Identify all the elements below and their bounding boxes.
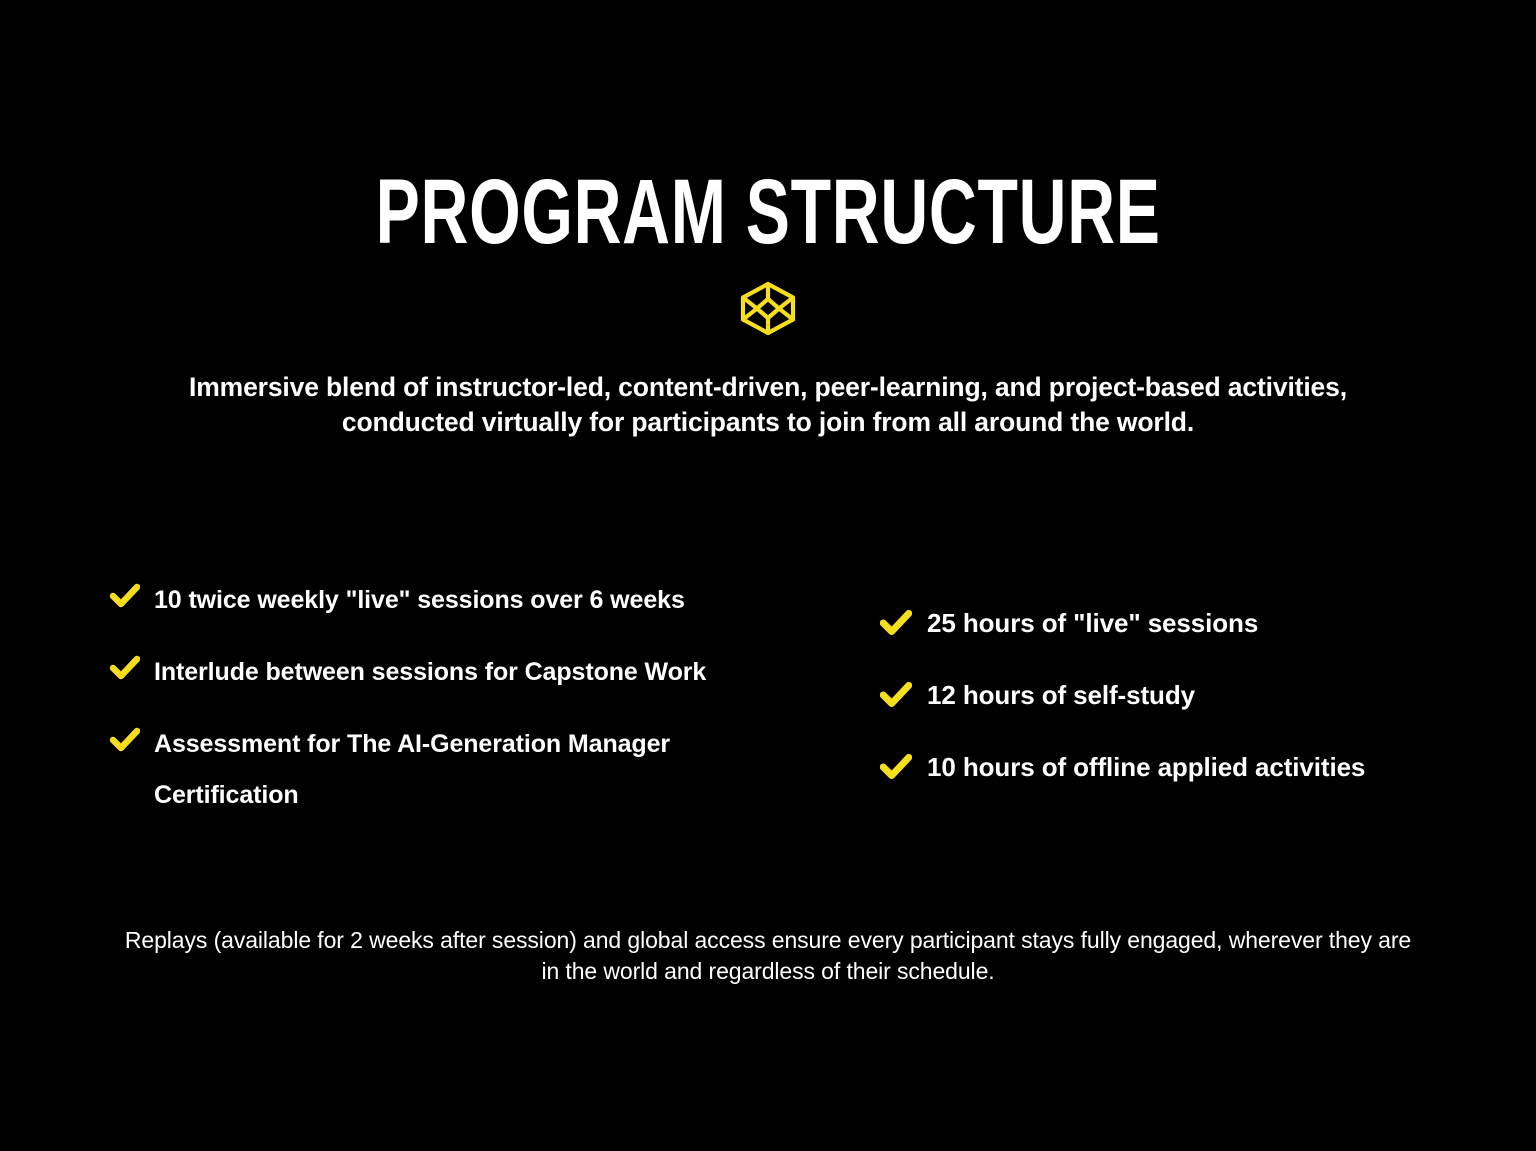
page-title-container: PROGRAM STRUCTURE — [0, 166, 1536, 258]
list-item-label: 10 hours of offline applied activities — [927, 745, 1365, 789]
list-item-label: Assessment for The AI-Generation Manager… — [154, 719, 750, 821]
list-item-label: 10 twice weekly "live" sessions over 6 w… — [154, 575, 685, 626]
list-item-label: 12 hours of self-study — [927, 673, 1195, 717]
list-item: 12 hours of self-study — [880, 673, 1420, 717]
hexagon-cube-icon — [739, 281, 797, 336]
feature-list-left: 10 twice weekly "live" sessions over 6 w… — [110, 575, 750, 821]
footer-note: Replays (available for 2 weeks after ses… — [118, 925, 1418, 987]
list-item: 10 hours of offline applied activities — [880, 745, 1420, 789]
emblem-container — [0, 281, 1536, 336]
list-item: 10 twice weekly "live" sessions over 6 w… — [110, 575, 750, 626]
check-icon — [110, 583, 140, 609]
subtitle-line-2: conducted virtually for participants to … — [342, 407, 1194, 437]
check-icon — [880, 609, 912, 637]
feature-list-right: 25 hours of "live" sessions 12 hours of … — [880, 601, 1420, 789]
check-icon — [110, 655, 140, 681]
list-item-label: 25 hours of "live" sessions — [927, 601, 1258, 645]
subtitle-line-1: Immersive blend of instructor-led, conte… — [189, 372, 1347, 402]
list-item: Interlude between sessions for Capstone … — [110, 647, 750, 698]
slide-root: PROGRAM STRUCTURE Immersive blend of ins… — [0, 0, 1536, 1151]
check-icon — [880, 681, 912, 709]
check-icon — [110, 727, 140, 753]
page-title: PROGRAM STRUCTURE — [375, 166, 1160, 258]
check-icon — [880, 753, 912, 781]
subtitle: Immersive blend of instructor-led, conte… — [120, 370, 1416, 440]
list-item: 25 hours of "live" sessions — [880, 601, 1420, 645]
list-item: Assessment for The AI-Generation Manager… — [110, 719, 750, 821]
list-item-label: Interlude between sessions for Capstone … — [154, 647, 706, 698]
